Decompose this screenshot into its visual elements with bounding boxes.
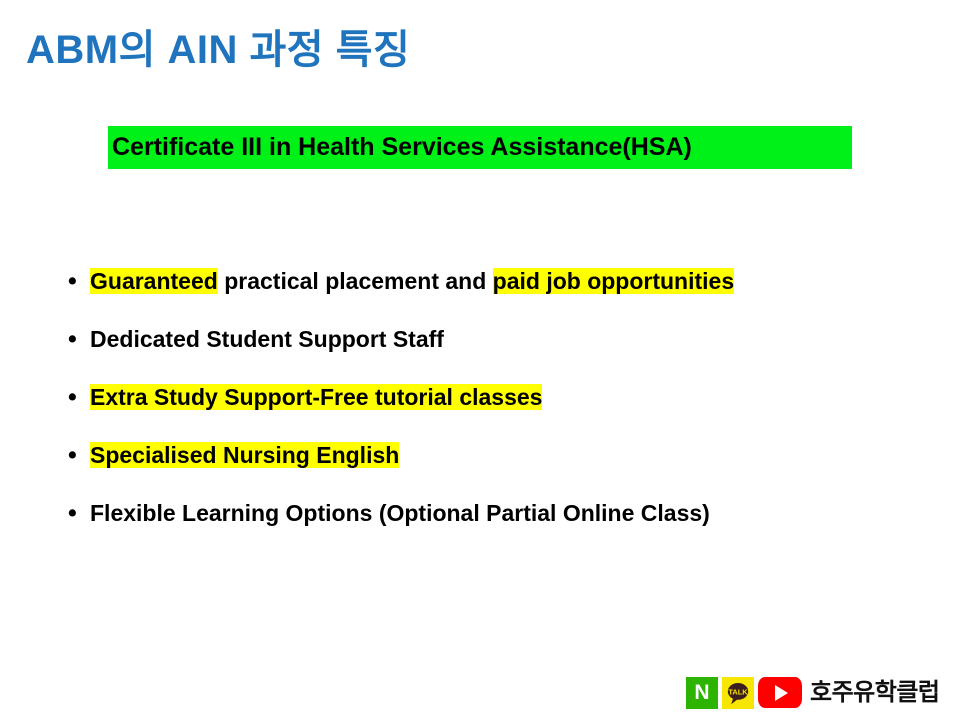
list-item: • Extra Study Support-Free tutorial clas… xyxy=(68,378,928,436)
list-item-segment: Guaranteed xyxy=(90,268,218,294)
list-item: • Guaranteed practical placement and pai… xyxy=(68,262,928,320)
svg-text:TALK: TALK xyxy=(728,687,748,696)
slide-canvas: ABM의 AIN 과정 특징 Certificate III in Health… xyxy=(0,0,960,720)
list-item-text: Extra Study Support-Free tutorial classe… xyxy=(90,378,542,416)
list-item: • Dedicated Student Support Staff xyxy=(68,320,928,378)
list-item-segment: paid job opportunities xyxy=(493,268,734,294)
page-title: ABM의 AIN 과정 특징 xyxy=(26,27,410,74)
naver-icon-label: N xyxy=(694,682,709,703)
list-item-segment: Dedicated Student Support Staff xyxy=(90,326,444,352)
bullet-dot-icon: • xyxy=(68,378,90,416)
bullet-dot-icon: • xyxy=(68,436,90,474)
list-item: • Specialised Nursing English xyxy=(68,436,928,494)
bullet-dot-icon: • xyxy=(68,262,90,300)
kakaotalk-icon[interactable]: TALK xyxy=(722,677,754,709)
list-item-segment: Specialised Nursing English xyxy=(90,442,399,468)
footer-branding: N TALK 호주유학클럽 xyxy=(686,676,939,709)
kakaotalk-bubble-icon: TALK xyxy=(724,679,752,707)
list-item: • Flexible Learning Options (Optional Pa… xyxy=(68,494,928,552)
list-item-segment: Flexible Learning Options (Optional Part… xyxy=(90,500,710,526)
feature-bullet-list: • Guaranteed practical placement and pai… xyxy=(68,262,928,552)
course-title-text: Certificate III in Health Services Assis… xyxy=(112,135,692,160)
list-item-text: Flexible Learning Options (Optional Part… xyxy=(90,494,710,532)
list-item-text: Specialised Nursing English xyxy=(90,436,399,474)
naver-icon[interactable]: N xyxy=(686,677,718,709)
course-title-band: Certificate III in Health Services Assis… xyxy=(108,126,852,169)
list-item-text: Dedicated Student Support Staff xyxy=(90,320,444,358)
list-item-text: Guaranteed practical placement and paid … xyxy=(90,262,734,300)
bullet-dot-icon: • xyxy=(68,320,90,358)
list-item-segment: practical placement and xyxy=(218,268,493,294)
youtube-icon[interactable] xyxy=(758,677,802,708)
list-item-segment: Extra Study Support-Free tutorial classe… xyxy=(90,384,542,410)
bullet-dot-icon: • xyxy=(68,494,90,532)
play-triangle-icon xyxy=(775,685,788,701)
brand-wordmark: 호주유학클럽 xyxy=(810,681,939,705)
